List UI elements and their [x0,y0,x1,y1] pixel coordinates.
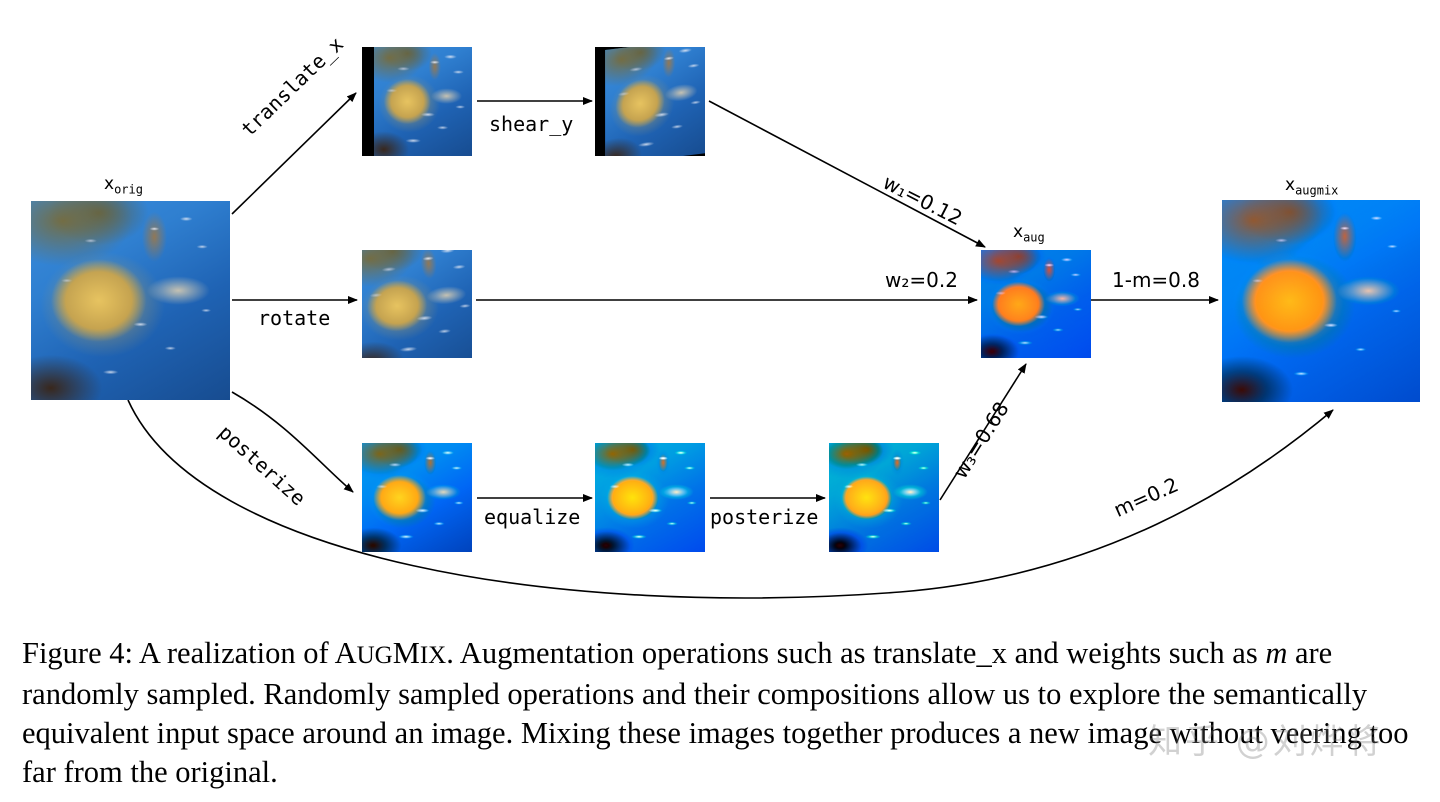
weight-w2: w₂=0.2 [885,268,958,292]
arrow-w1 [709,101,985,247]
image-x-aug [981,250,1091,358]
x-augmix-sub: augmix [1295,183,1338,197]
augmix-diagram: xorig translate_x shear_y rotate posteri… [0,0,1440,630]
image-x-augmix [1222,200,1420,402]
label-translate-x: translate_x [236,32,348,141]
caption-seg-3: M [393,636,420,670]
image-equalize [595,443,705,552]
translate-x-scene [374,47,472,156]
weight-w1: w₁=0.12 [879,170,966,230]
shear-y-scene [605,47,705,156]
figure-page: xorig translate_x shear_y rotate posteri… [0,0,1440,802]
x-augmix-var: x [1285,175,1295,195]
x-aug-label: xaug [1013,222,1045,244]
posterize-1-scene [362,443,472,552]
rotate-scene [362,250,472,358]
image-x-orig [31,201,230,400]
weight-one-minus-m: 1-m=0.8 [1112,268,1200,292]
x-orig-var: x [104,174,114,194]
x-aug-sub: aug [1023,230,1045,244]
one-minus-m-text: 1-m=0.8 [1112,268,1200,292]
caption-seg-2: UG [357,642,393,669]
label-equalize: equalize [484,505,580,529]
m-text: m=0.2 [1110,472,1182,522]
image-rotate [362,250,472,358]
x-orig-label: xorig [104,174,143,196]
label-posterize-1: posterize [214,420,311,510]
label-shear-y: shear_y [489,112,573,136]
caption-seg-5: . Augmentation operations such as transl… [446,636,1265,670]
w1-text: w₁=0.12 [879,170,966,230]
caption-seg-6: m [1265,636,1287,670]
caption-seg-4: IX [420,642,446,669]
caption-seg-1: A [335,636,357,670]
image-translate-x [362,47,472,156]
x-aug-scene [981,250,1091,358]
equalize-scene [595,443,705,552]
w2-text: w₂=0.2 [885,268,958,292]
x-aug-var: x [1013,222,1023,242]
caption-seg-0: Figure 4: A realization of [22,636,335,670]
label-rotate: rotate [258,306,330,330]
w3-text: w₃=0.68 [948,397,1014,482]
figure-caption: Figure 4: A realization of AUGMIX. Augme… [22,634,1422,792]
image-posterize-2 [829,443,939,552]
posterize-2-scene [829,443,939,552]
x-orig-scene [31,201,230,400]
x-orig-sub: orig [114,182,143,196]
weight-m: m=0.2 [1110,472,1182,522]
label-posterize-2: posterize [710,505,818,529]
image-shear-y [595,47,705,156]
x-augmix-scene [1222,200,1420,402]
x-augmix-label: xaugmix [1285,175,1338,197]
image-posterize-1 [362,443,472,552]
weight-w3: w₃=0.68 [948,397,1014,482]
